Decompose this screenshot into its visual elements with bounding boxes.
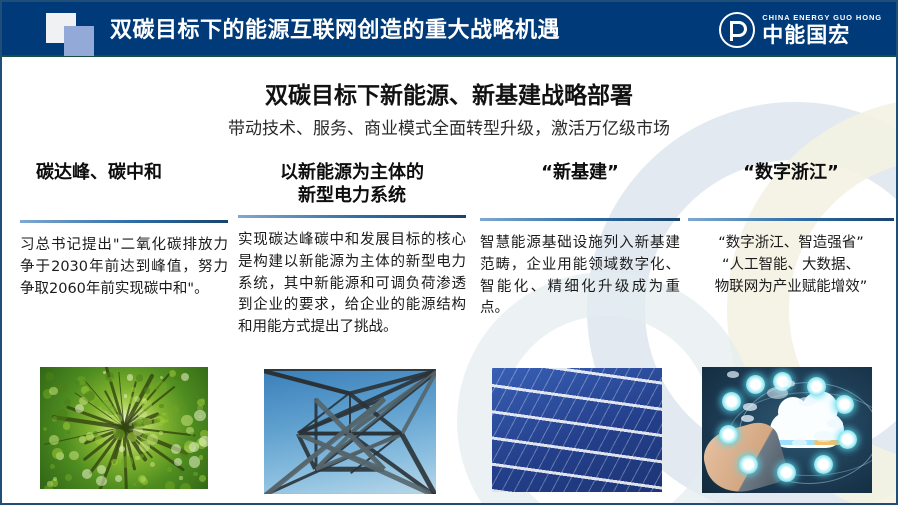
column-new-power-system: 以新能源为主体的 新型电力系统 实现碳达峰碳中和发展目标的核心是构建以新能源为主… xyxy=(238,162,466,339)
forest-canopy-image xyxy=(40,367,208,489)
logo-text: CHINA ENERGY GUO HONG 中能国宏 xyxy=(762,14,882,46)
column-body-line2: “人工智能、大数据、 xyxy=(688,255,894,277)
cloud-computing-image xyxy=(702,367,872,493)
circle-g-icon xyxy=(719,12,755,48)
column-body-text: 智慧能源基础设施列入新基建范畴，企业用能领域数字化、智能化、精细化升级成为重点。 xyxy=(480,233,680,320)
column-heading: “新基建” xyxy=(480,162,680,186)
column-body-line1: “数字浙江、智造强省” xyxy=(688,233,894,255)
column-rule xyxy=(480,218,680,221)
column-digital-zhejiang: “数字浙江” “数字浙江、智造强省” “人工智能、大数据、 物联网为产业赋能增效… xyxy=(688,162,894,298)
column-new-infrastructure: “新基建” 智慧能源基础设施列入新基建范畴，企业用能领域数字化、智能化、精细化升… xyxy=(480,162,680,320)
logo-english-name: CHINA ENERGY GUO HONG xyxy=(762,14,882,22)
solar-panel-image xyxy=(492,368,662,492)
solar-panel-photo xyxy=(492,368,662,492)
column-rule xyxy=(20,220,228,223)
company-logo: CHINA ENERGY GUO HONG 中能国宏 xyxy=(719,10,882,50)
column-heading: 以新能源为主体的 新型电力系统 xyxy=(238,162,466,207)
page-subtitle: 带动技术、服务、商业模式全面转型升级，激活万亿级市场 xyxy=(2,114,896,139)
column-body-text: 实现碳达峰碳中和发展目标的核心是构建以新能源为主体的新型电力系统，其中新能源和可… xyxy=(238,230,466,339)
decor-square-blue xyxy=(64,26,94,56)
column-body-text: “数字浙江、智造强省” “人工智能、大数据、 物联网为产业赋能增效” xyxy=(688,233,894,298)
logo-chinese-name: 中能国宏 xyxy=(762,25,882,46)
forest-canopy-photo xyxy=(40,367,208,489)
cloud-progress-bar xyxy=(770,440,844,445)
column-heading: 碳达峰、碳中和 xyxy=(20,162,228,186)
slide-canvas: 双碳目标下的能源互联网创造的重大战略机遇 CHINA ENERGY GUO HO… xyxy=(0,0,898,505)
column-heading: “数字浙江” xyxy=(688,162,894,186)
column-body-line3: 物联网为产业赋能增效” xyxy=(688,277,894,299)
header-title: 双碳目标下的能源互联网创造的重大战略机遇 xyxy=(110,12,560,44)
transmission-tower-photo xyxy=(264,369,436,494)
column-carbon-peak: 碳达峰、碳中和 习总书记提出"二氧化碳排放力争于2030年前达到峰值，努力争取2… xyxy=(20,162,228,300)
header-bar: 双碳目标下的能源互联网创造的重大战略机遇 CHINA ENERGY GUO HO… xyxy=(2,2,896,57)
cloud-computing-photo xyxy=(702,367,872,493)
column-rule xyxy=(688,218,894,221)
column-body-text: 习总书记提出"二氧化碳排放力争于2030年前达到峰值，努力争取2060年前实现碳… xyxy=(20,235,228,300)
page-title: 双碳目标下新能源、新基建战略部署 xyxy=(2,76,896,110)
column-heading-line2: 新型电力系统 xyxy=(238,185,466,208)
column-heading-line1: 以新能源为主体的 xyxy=(238,162,466,185)
column-rule xyxy=(238,215,466,218)
transmission-tower-image xyxy=(264,369,436,494)
